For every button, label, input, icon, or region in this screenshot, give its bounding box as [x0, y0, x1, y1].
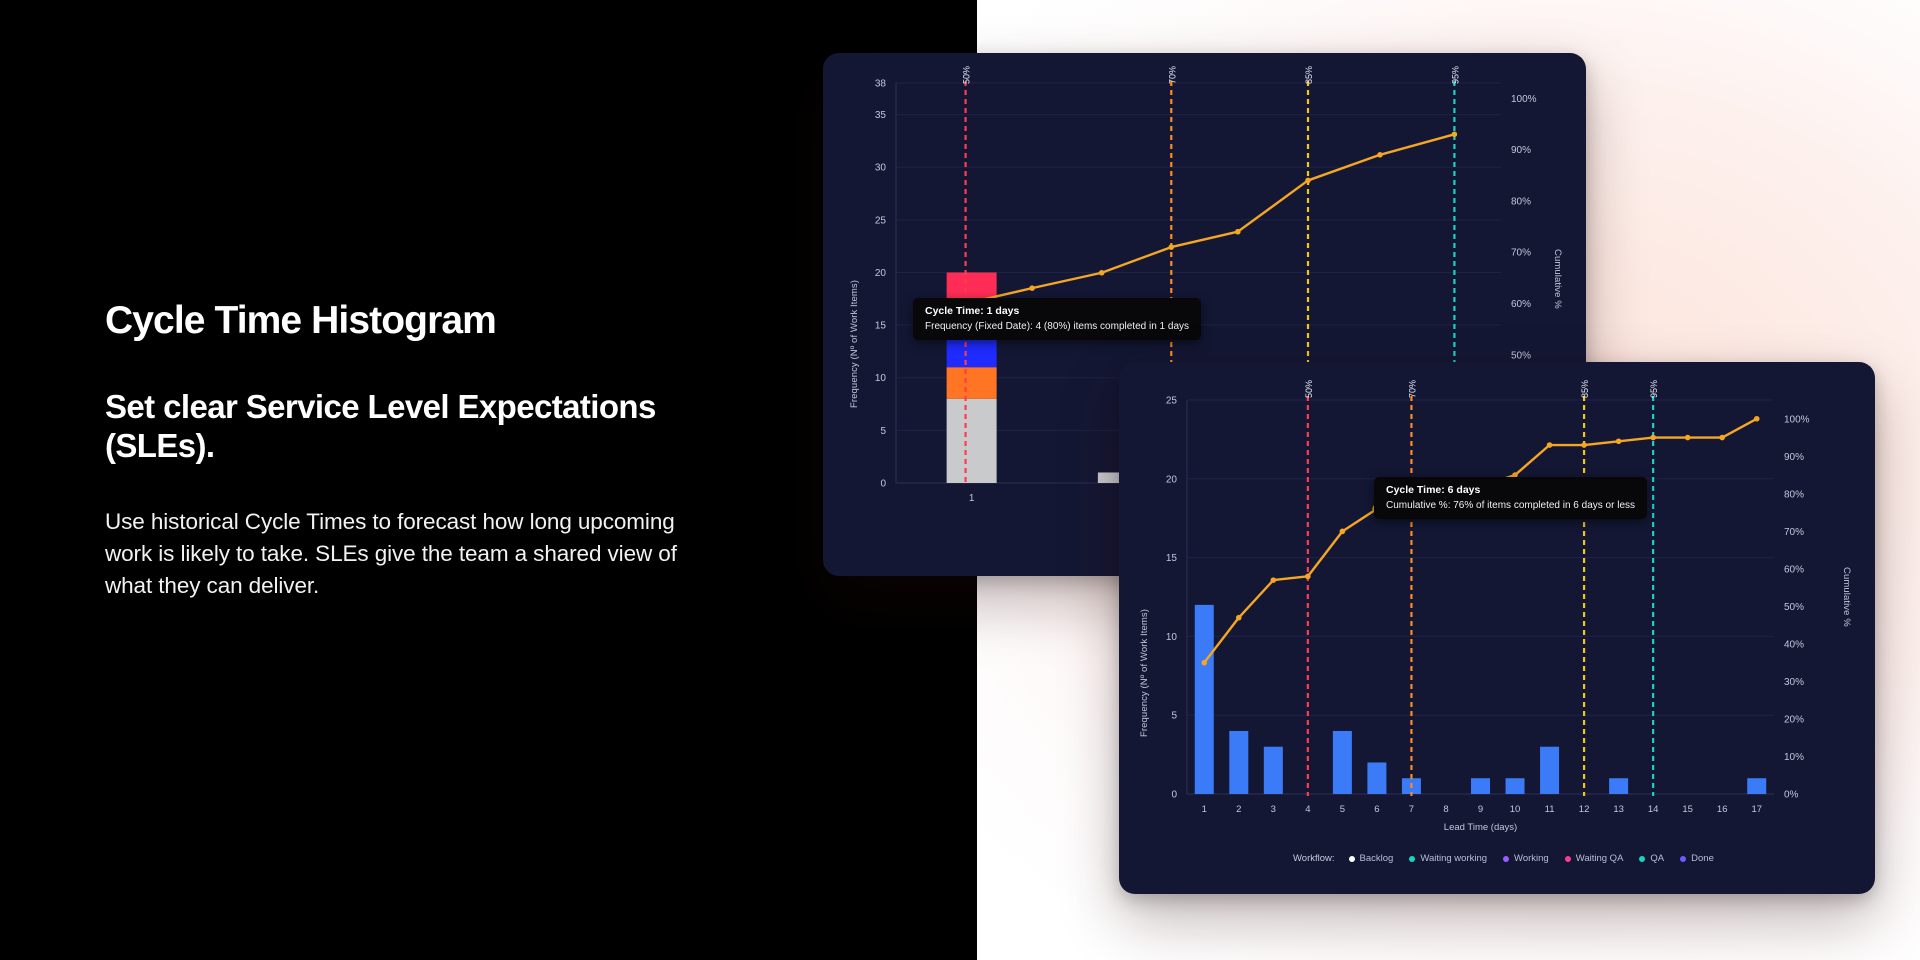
svg-text:80%: 80%	[1511, 196, 1531, 207]
svg-text:30: 30	[875, 163, 887, 174]
svg-text:25: 25	[875, 215, 887, 226]
svg-text:70%: 70%	[1784, 527, 1804, 538]
svg-text:11: 11	[1545, 804, 1555, 815]
svg-text:4: 4	[1305, 804, 1310, 815]
tooltip-title: Cycle Time: 1 days	[925, 305, 1189, 317]
svg-text:5: 5	[880, 426, 886, 437]
svg-text:100%: 100%	[1784, 414, 1810, 425]
svg-text:0: 0	[1171, 790, 1177, 801]
svg-text:1: 1	[1202, 804, 1207, 815]
legend-swatch-icon	[1349, 856, 1355, 862]
legend-item-label: QA	[1650, 853, 1664, 864]
svg-text:60%: 60%	[1784, 564, 1804, 575]
svg-text:60%: 60%	[1511, 299, 1531, 310]
legend-item-label: Backlog	[1360, 853, 1394, 864]
cycle-time-histogram-card-bottom: 05101520250%10%20%30%40%50%60%70%80%90%1…	[1119, 362, 1875, 894]
svg-text:90%: 90%	[1511, 145, 1531, 156]
headline: Set clear Service Level Expectations (SL…	[105, 388, 725, 466]
body-paragraph: Use historical Cycle Times to forecast h…	[105, 506, 725, 602]
legend-item-label: Waiting QA	[1576, 853, 1624, 864]
svg-text:20: 20	[1166, 474, 1178, 485]
legend-swatch-icon	[1565, 856, 1571, 862]
svg-text:15: 15	[1682, 804, 1693, 815]
svg-text:1: 1	[969, 493, 975, 504]
svg-text:17: 17	[1751, 804, 1762, 815]
y2-axis-title-top: Cumulative %	[1552, 249, 1563, 309]
svg-text:95%: 95%	[1649, 380, 1659, 398]
svg-text:70%: 70%	[1407, 380, 1417, 398]
svg-text:9: 9	[1478, 804, 1483, 815]
svg-text:15: 15	[875, 321, 887, 332]
svg-text:6: 6	[1374, 804, 1379, 815]
marketing-copy-block: Cycle Time Histogram Set clear Service L…	[105, 300, 725, 602]
legend-item-label: Working	[1514, 853, 1549, 864]
svg-text:0: 0	[880, 479, 886, 490]
legend-swatch-icon	[1503, 856, 1509, 862]
chart-plot-area-bottom: 05101520250%10%20%30%40%50%60%70%80%90%1…	[1119, 362, 1875, 894]
svg-text:50%: 50%	[1304, 380, 1314, 398]
chart-svg-bottom: 05101520250%10%20%30%40%50%60%70%80%90%1…	[1119, 362, 1875, 894]
legend-item-qa[interactable]: QA	[1639, 853, 1664, 864]
svg-text:15: 15	[1166, 553, 1178, 564]
legend-item-working[interactable]: Working	[1503, 853, 1549, 864]
y-axis-title-top: Frequency (Nº of Work Items)	[849, 280, 860, 408]
svg-text:95%: 95%	[1450, 66, 1460, 84]
legend-item-waiting-qa[interactable]: Waiting QA	[1565, 853, 1624, 864]
svg-text:70%: 70%	[1511, 248, 1531, 259]
svg-text:30%: 30%	[1784, 677, 1804, 688]
svg-text:0%: 0%	[1784, 790, 1799, 801]
tooltip-body: Frequency (Fixed Date): 4 (80%) items co…	[925, 321, 1189, 332]
svg-text:100%: 100%	[1511, 94, 1537, 105]
svg-text:70%: 70%	[1167, 66, 1177, 84]
svg-text:3: 3	[1271, 804, 1276, 815]
svg-text:5: 5	[1171, 711, 1177, 722]
svg-text:5: 5	[1340, 804, 1345, 815]
svg-text:40%: 40%	[1784, 639, 1804, 650]
chart-tooltip-top: Cycle Time: 1 days Frequency (Fixed Date…	[913, 298, 1201, 340]
chart-tooltip-bottom: Cycle Time: 6 days Cumulative %: 76% of …	[1374, 477, 1647, 519]
svg-text:20: 20	[875, 268, 887, 279]
svg-text:25: 25	[1166, 396, 1178, 407]
svg-text:7: 7	[1409, 804, 1414, 815]
svg-text:10: 10	[875, 373, 887, 384]
svg-text:16: 16	[1717, 804, 1728, 815]
svg-text:85%: 85%	[1304, 66, 1314, 84]
svg-text:2: 2	[1236, 804, 1241, 815]
legend-swatch-icon	[1680, 856, 1686, 862]
svg-text:14: 14	[1648, 804, 1659, 815]
legend-item-label: Waiting working	[1420, 853, 1487, 864]
svg-text:85%: 85%	[1580, 380, 1590, 398]
svg-text:10%: 10%	[1784, 752, 1804, 763]
svg-text:90%: 90%	[1784, 452, 1804, 463]
y2-axis-title-bottom: Cumulative %	[1841, 567, 1852, 627]
tooltip-body: Cumulative %: 76% of items completed in …	[1386, 500, 1635, 511]
svg-text:8: 8	[1443, 804, 1448, 815]
legend-swatch-icon	[1639, 856, 1645, 862]
page-title: Cycle Time Histogram	[105, 300, 725, 342]
y-axis-title-bottom: Frequency (Nº of Work Items)	[1139, 609, 1150, 737]
tooltip-title: Cycle Time: 6 days	[1386, 484, 1635, 496]
svg-text:50%: 50%	[962, 66, 972, 84]
svg-text:13: 13	[1613, 804, 1624, 815]
svg-text:35: 35	[875, 110, 887, 121]
legend-item-waiting-working[interactable]: Waiting working	[1409, 853, 1487, 864]
svg-text:38: 38	[875, 79, 887, 90]
svg-text:80%: 80%	[1784, 489, 1804, 500]
legend-swatch-icon	[1409, 856, 1415, 862]
legend-label-bottom: Workflow:	[1293, 853, 1335, 864]
svg-text:10: 10	[1510, 804, 1521, 815]
svg-text:Lead Time (days): Lead Time (days)	[1444, 822, 1517, 833]
svg-text:12: 12	[1579, 804, 1590, 815]
svg-text:50%: 50%	[1784, 602, 1804, 613]
legend-item-done[interactable]: Done	[1680, 853, 1714, 864]
legend-item-backlog[interactable]: Backlog	[1349, 853, 1394, 864]
svg-text:10: 10	[1166, 632, 1178, 643]
svg-text:50%: 50%	[1511, 350, 1531, 361]
svg-text:20%: 20%	[1784, 714, 1804, 725]
legend-item-label: Done	[1691, 853, 1714, 864]
chart-legend-bottom: Workflow:BacklogWaiting workingWorkingWa…	[1293, 853, 1730, 864]
